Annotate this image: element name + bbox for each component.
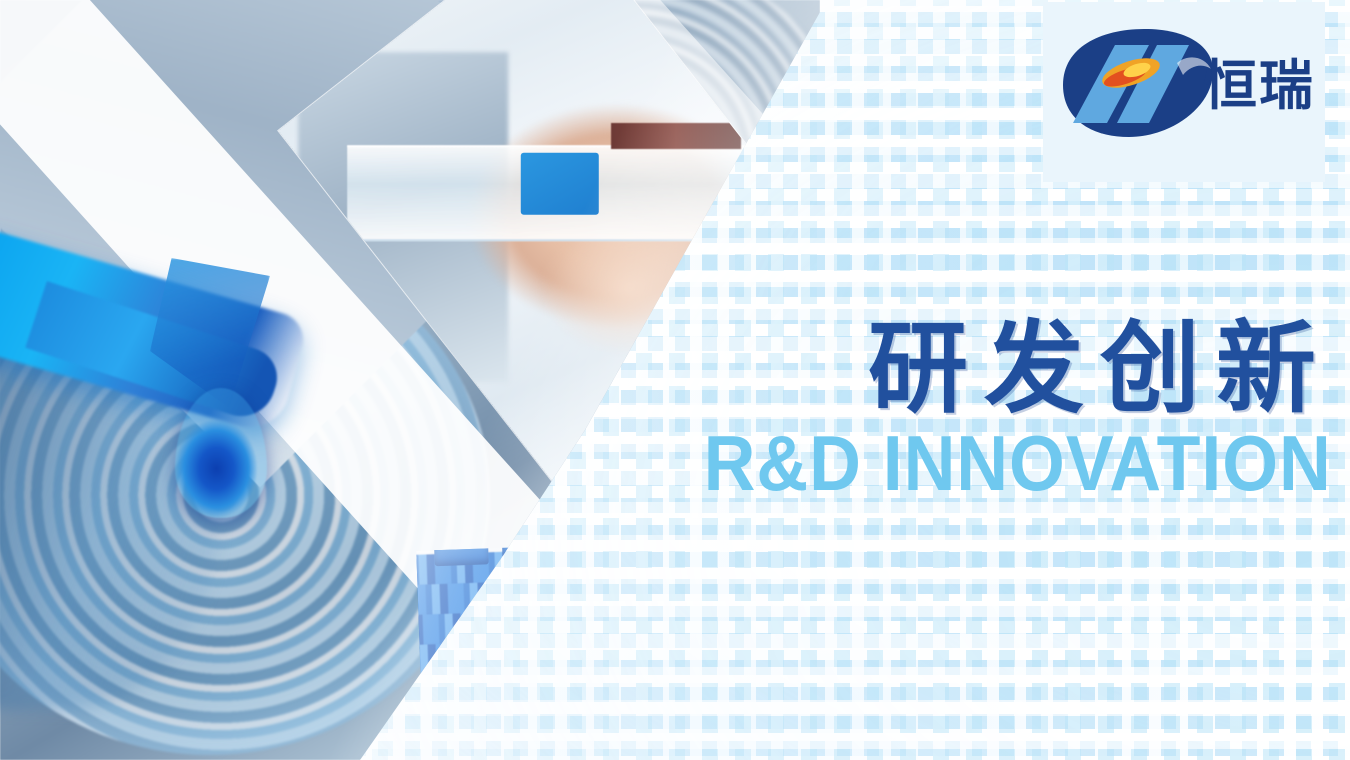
title-english: R&D INNOVATION (704, 424, 1332, 502)
title-chinese: 研发创新 (649, 318, 1332, 420)
rd-innovation-banner: 恒瑞 研发创新 R&D INNOVATION (0, 0, 1350, 760)
test-tube-blue-label (521, 153, 599, 215)
logo-company-name: 恒瑞 (1203, 59, 1315, 113)
company-logo: 恒瑞 (1043, 2, 1325, 182)
hengrui-swoosh-mark (1053, 23, 1221, 143)
test-tube-liquid (611, 123, 741, 149)
headline-block: 研发创新 R&D INNOVATION (649, 318, 1332, 502)
